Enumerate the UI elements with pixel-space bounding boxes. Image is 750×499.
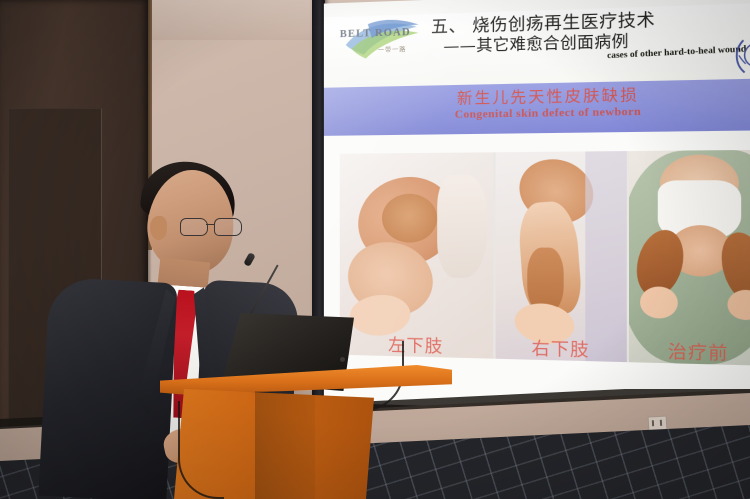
suit-jacket-left [38,277,177,499]
lectern-body-shading [255,391,315,499]
clinical-photo-2: 右下肢 [496,151,627,362]
presentation-scene: BELT ROAD 一带一路 五、 烧伤创疡再生医疗技术 ——其它难愈合创面病例… [0,0,750,499]
presenter-ear [150,216,167,240]
who-style-emblem-icon [732,31,750,80]
clinical-photo-3: 治疗前 [629,150,750,366]
slide-title-line2: ——其它难愈合创面病例 [443,29,628,57]
wall-power-outlet[interactable] [648,416,668,432]
belt-road-subtext: 一带一路 [378,44,406,54]
photo-2-label: 右下肢 [496,341,627,360]
lectern [160,305,460,499]
belt-and-road-logo-icon: BELT ROAD 一带一路 [338,12,425,63]
eyeglasses-icon [180,218,242,235]
